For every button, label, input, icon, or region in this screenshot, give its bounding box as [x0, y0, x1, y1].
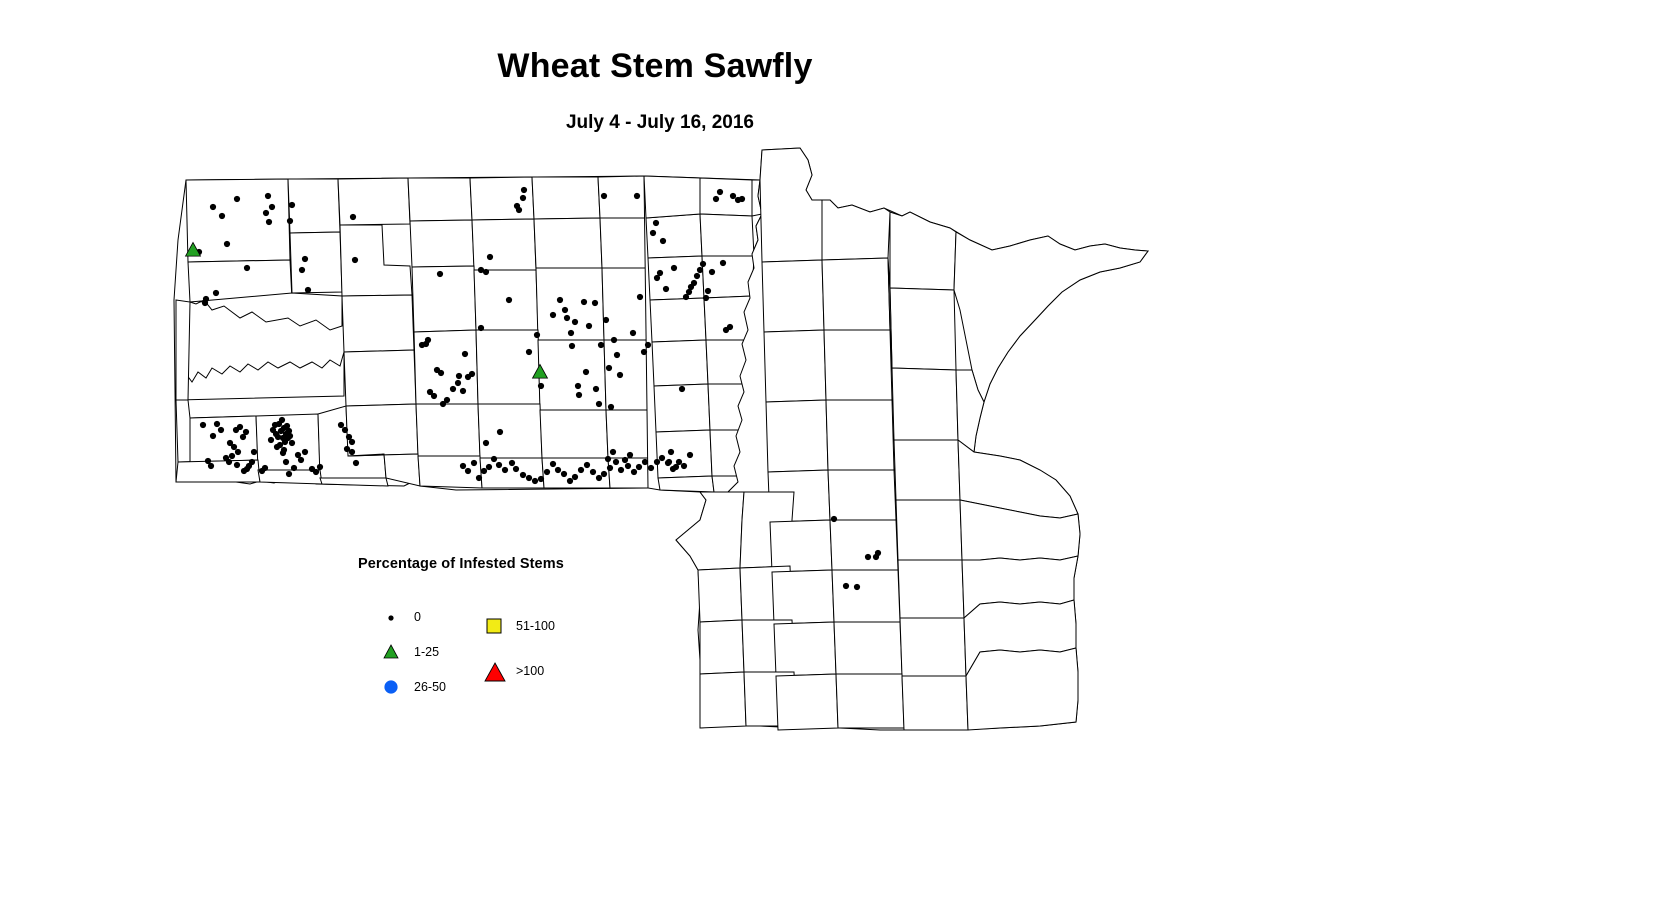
map-data-point[interactable] [214, 421, 220, 427]
county [652, 340, 708, 386]
map-data-point[interactable] [598, 342, 604, 348]
map-data-point[interactable] [478, 325, 484, 331]
map-data-point[interactable] [513, 466, 519, 472]
county [338, 178, 410, 225]
map-data-point[interactable] [654, 459, 660, 465]
map-data-point[interactable] [200, 422, 206, 428]
map-data-point[interactable] [520, 195, 526, 201]
blue-circle-icon [382, 676, 408, 698]
county [600, 218, 648, 268]
map-data-point[interactable] [603, 317, 609, 323]
map-data-point[interactable] [717, 189, 723, 195]
map-data-point[interactable] [262, 465, 268, 471]
county [676, 492, 744, 570]
map-data-point[interactable] [419, 342, 425, 348]
map-data-point[interactable] [208, 463, 214, 469]
map-data-point[interactable] [235, 449, 241, 455]
map-data-point[interactable] [567, 478, 573, 484]
map-data-point[interactable] [218, 427, 224, 433]
county [770, 520, 832, 572]
map-data-point[interactable] [462, 351, 468, 357]
map-data-point[interactable] [251, 449, 257, 455]
map-data-point[interactable] [234, 462, 240, 468]
map-data-point[interactable] [313, 469, 319, 475]
county [534, 218, 602, 268]
map-svg[interactable] [0, 0, 1673, 900]
map-data-point[interactable] [694, 273, 700, 279]
map-page: Wheat Stem Sawfly July 4 - July 16, 2016 [0, 0, 1673, 900]
map-data-point[interactable] [265, 193, 271, 199]
map-data-point[interactable] [520, 472, 526, 478]
map-data-point[interactable] [317, 464, 323, 470]
county [478, 404, 542, 458]
map-data-point[interactable] [305, 287, 311, 293]
map-data-point[interactable] [606, 365, 612, 371]
county [176, 300, 190, 400]
map-data-point[interactable] [437, 271, 443, 277]
map-data-point[interactable] [631, 469, 637, 475]
map-data-point[interactable] [263, 210, 269, 216]
county [186, 179, 290, 262]
map-data-point[interactable] [349, 439, 355, 445]
state-montana [174, 176, 656, 490]
county [828, 470, 896, 520]
county [822, 200, 890, 260]
county [762, 260, 824, 332]
map-data-point[interactable] [202, 300, 208, 306]
map-data-point[interactable] [630, 330, 636, 336]
map-data-point[interactable] [509, 460, 515, 466]
map-data-point[interactable] [627, 452, 633, 458]
legend-item-1-25[interactable]: 1-25 [382, 641, 439, 663]
county [760, 148, 822, 262]
map-data-point[interactable] [213, 290, 219, 296]
county [966, 648, 1078, 730]
county [836, 674, 904, 728]
map-data-point[interactable] [663, 286, 669, 292]
map-data-point[interactable] [450, 386, 456, 392]
map-data-point[interactable] [352, 257, 358, 263]
map-data-point[interactable] [596, 401, 602, 407]
map-data-point[interactable] [289, 440, 295, 446]
county [538, 340, 606, 410]
county [824, 330, 892, 400]
county [532, 177, 600, 219]
map-data-point[interactable] [349, 449, 355, 455]
map-data-point[interactable] [608, 404, 614, 410]
map-data-point[interactable] [286, 471, 292, 477]
county [954, 232, 1148, 402]
legend-item-26-50[interactable]: 26-50 [382, 676, 446, 698]
map-data-point[interactable] [657, 270, 663, 276]
map-data-point[interactable] [210, 204, 216, 210]
map-data-point[interactable] [431, 393, 437, 399]
map-data-point[interactable] [831, 516, 837, 522]
map-data-point[interactable] [865, 554, 871, 560]
small-black-dot-icon [382, 606, 408, 628]
map-data-point[interactable] [739, 196, 745, 202]
map-data-point[interactable] [601, 193, 607, 199]
county [410, 220, 474, 267]
map-data-point[interactable] [613, 459, 619, 465]
map-data-point[interactable] [709, 269, 715, 275]
map-data-point[interactable] [237, 424, 243, 430]
map-data-point[interactable] [521, 187, 527, 193]
county [700, 620, 744, 674]
county [772, 570, 834, 624]
map-data-point[interactable] [219, 213, 225, 219]
county [898, 560, 964, 618]
map-data-point[interactable] [700, 261, 706, 267]
county [890, 212, 956, 290]
county [344, 350, 416, 406]
map-data-point[interactable] [875, 550, 881, 556]
map-data-point[interactable] [720, 260, 726, 266]
map-data-point[interactable] [550, 461, 556, 467]
map-data-point[interactable] [705, 288, 711, 294]
map-data-point[interactable] [465, 468, 471, 474]
green-triangle-icon [382, 641, 408, 663]
county [656, 430, 712, 478]
legend-item-0[interactable]: 0 [382, 606, 421, 628]
map-data-point[interactable] [487, 254, 493, 260]
map-data-point[interactable] [244, 265, 250, 271]
county [774, 622, 836, 676]
county [412, 266, 476, 332]
map-data-point[interactable] [342, 427, 348, 433]
county [700, 672, 746, 728]
map-data-point[interactable] [557, 297, 563, 303]
yellow-square-icon [484, 615, 510, 637]
map-data-point[interactable] [727, 324, 733, 330]
county [896, 500, 962, 560]
map-data-point[interactable] [455, 380, 461, 386]
map-data-point[interactable] [244, 466, 250, 472]
map-data-point[interactable] [679, 386, 685, 392]
map-data-point[interactable] [578, 467, 584, 473]
map-data-point[interactable] [648, 465, 654, 471]
map-data-point[interactable] [572, 474, 578, 480]
map-data-point[interactable] [636, 464, 642, 470]
map-data-point[interactable] [691, 280, 697, 286]
map-data-point[interactable] [550, 312, 556, 318]
map-data-point[interactable] [590, 469, 596, 475]
map-data-point[interactable] [713, 196, 719, 202]
map-data-point[interactable] [697, 267, 703, 273]
legend-title: Percentage of Infested Stems [358, 556, 564, 572]
county [834, 622, 902, 674]
map-data-point[interactable] [605, 456, 611, 462]
red-triangle-icon [484, 660, 510, 682]
county [704, 296, 752, 340]
map-data-point[interactable] [634, 193, 640, 199]
map-data-point[interactable] [538, 383, 544, 389]
map-data-point[interactable] [234, 196, 240, 202]
map-data-point[interactable] [291, 465, 297, 471]
map-data-point[interactable] [444, 397, 450, 403]
map-data-point[interactable] [555, 467, 561, 473]
map-data-point[interactable] [298, 457, 304, 463]
county [658, 476, 714, 492]
map-data-point[interactable] [576, 392, 582, 398]
map-data-point[interactable] [670, 466, 676, 472]
map-data-point[interactable] [668, 449, 674, 455]
map-data-point[interactable] [562, 307, 568, 313]
map-data-point[interactable] [514, 203, 520, 209]
legend-item-0-label: 0 [414, 610, 421, 624]
county [190, 416, 258, 462]
map-data-point[interactable] [854, 584, 860, 590]
county [776, 674, 838, 730]
county [900, 618, 966, 676]
county [408, 178, 472, 221]
map-data-point[interactable] [622, 457, 628, 463]
map-data-point[interactable] [653, 220, 659, 226]
map-data-point[interactable] [460, 388, 466, 394]
map-data-point[interactable] [596, 475, 602, 481]
map-data-point[interactable] [456, 373, 462, 379]
map-data-point[interactable] [618, 467, 624, 473]
map-data-point[interactable] [469, 371, 475, 377]
county [540, 410, 608, 458]
map-data-point[interactable] [280, 450, 286, 456]
map-data-point[interactable] [526, 475, 532, 481]
map-data-point[interactable] [676, 459, 682, 465]
map-data-point[interactable] [502, 467, 508, 473]
map-data-point[interactable] [224, 241, 230, 247]
map-data-point[interactable] [584, 462, 590, 468]
map-data-point[interactable] [249, 459, 255, 465]
map-data-point[interactable] [568, 330, 574, 336]
map-data-point[interactable] [572, 319, 578, 325]
county [764, 330, 826, 402]
map-data-point[interactable] [617, 372, 623, 378]
county [602, 268, 650, 340]
map-data-point[interactable] [438, 370, 444, 376]
map-data-point[interactable] [592, 300, 598, 306]
map-data-point[interactable] [637, 294, 643, 300]
map-data-point[interactable] [425, 337, 431, 343]
map-data-point[interactable] [353, 460, 359, 466]
map-data-point[interactable] [730, 193, 736, 199]
legend-item-1-25-label: 1-25 [414, 645, 439, 659]
map-data-point[interactable] [645, 342, 651, 348]
county [902, 676, 968, 730]
county [290, 232, 342, 293]
county [832, 570, 900, 622]
map-data-point[interactable] [650, 230, 656, 236]
map-data-point[interactable] [275, 434, 281, 440]
map-data-point[interactable] [610, 449, 616, 455]
county [416, 404, 480, 456]
map-data-point[interactable] [614, 352, 620, 358]
county [346, 404, 418, 456]
legend: Percentage of Infested Stems 0 1-25 26-5… [352, 548, 652, 713]
map-data-point[interactable] [586, 323, 592, 329]
county [472, 219, 536, 270]
map-data-point[interactable] [483, 269, 489, 275]
map-data-point[interactable] [593, 386, 599, 392]
map-data-point[interactable] [703, 295, 709, 301]
map-canvas[interactable] [0, 0, 1673, 900]
county [476, 330, 540, 404]
map-data-point[interactable] [561, 471, 567, 477]
map-data-point[interactable] [278, 428, 284, 434]
county [698, 568, 742, 622]
map-data-point[interactable] [229, 453, 235, 459]
map-data-point[interactable] [625, 463, 631, 469]
legend-item-26-50-label: 26-50 [414, 680, 446, 694]
legend-item-gt-100[interactable]: >100 [484, 660, 544, 682]
county [650, 298, 706, 342]
map-data-point[interactable] [486, 464, 492, 470]
map-data-point[interactable] [659, 455, 665, 461]
map-data-point[interactable] [687, 452, 693, 458]
county [342, 295, 414, 352]
map-data-point[interactable] [569, 343, 575, 349]
map-data-point[interactable] [671, 265, 677, 271]
map-data-point[interactable] [471, 460, 477, 466]
map-data-point[interactable] [226, 459, 232, 465]
map-data-point[interactable] [564, 315, 570, 321]
map-data-point[interactable] [350, 214, 356, 220]
legend-item-gt-100-label: >100 [516, 664, 544, 678]
county [890, 288, 956, 370]
map-data-point[interactable] [289, 202, 295, 208]
map-data-point[interactable] [476, 475, 482, 481]
county [700, 214, 754, 256]
map-data-point[interactable] [534, 332, 540, 338]
county [826, 400, 894, 470]
map-data-point[interactable] [581, 299, 587, 305]
county [644, 176, 700, 218]
county [414, 330, 478, 404]
map-data-point[interactable] [287, 218, 293, 224]
county [894, 440, 960, 500]
map-data-point[interactable] [269, 204, 275, 210]
map-data-point[interactable] [544, 469, 550, 475]
county [822, 258, 890, 330]
county [892, 368, 958, 440]
map-data-point[interactable] [231, 444, 237, 450]
map-data-point[interactable] [601, 471, 607, 477]
legend-item-51-100[interactable]: 51-100 [484, 615, 555, 637]
map-data-point[interactable] [641, 349, 647, 355]
map-data-point[interactable] [611, 337, 617, 343]
map-data-point[interactable] [665, 460, 671, 466]
map-data-point[interactable] [575, 383, 581, 389]
map-data-point[interactable] [496, 462, 502, 468]
map-data-point[interactable] [299, 267, 305, 273]
map-data-point[interactable] [681, 463, 687, 469]
map-data-point[interactable] [243, 429, 249, 435]
map-data-point[interactable] [266, 219, 272, 225]
map-data-point[interactable] [607, 465, 613, 471]
map-data-point[interactable] [302, 256, 308, 262]
map-data-point[interactable] [526, 349, 532, 355]
map-data-point[interactable] [210, 433, 216, 439]
map-data-point[interactable] [272, 422, 278, 428]
map-data-point[interactable] [843, 583, 849, 589]
map-data-point[interactable] [483, 440, 489, 446]
map-data-point[interactable] [274, 444, 280, 450]
map-data-point[interactable] [506, 297, 512, 303]
map-data-point[interactable] [481, 468, 487, 474]
map-data-point[interactable] [532, 478, 538, 484]
map-data-point[interactable] [491, 456, 497, 462]
map-data-point[interactable] [279, 417, 285, 423]
county [766, 400, 828, 472]
map-data-point[interactable] [268, 437, 274, 443]
map-data-point[interactable] [285, 435, 291, 441]
map-data-point[interactable] [583, 369, 589, 375]
map-data-point[interactable] [338, 422, 344, 428]
map-data-point[interactable] [660, 238, 666, 244]
map-data-point[interactable] [302, 449, 308, 455]
county [830, 520, 898, 570]
legend-item-51-100-label: 51-100 [516, 619, 555, 633]
county [288, 179, 340, 233]
map-data-point[interactable] [538, 476, 544, 482]
map-data-point[interactable] [283, 459, 289, 465]
map-data-point[interactable] [642, 459, 648, 465]
map-data-point[interactable] [460, 463, 466, 469]
map-data-point[interactable] [497, 429, 503, 435]
